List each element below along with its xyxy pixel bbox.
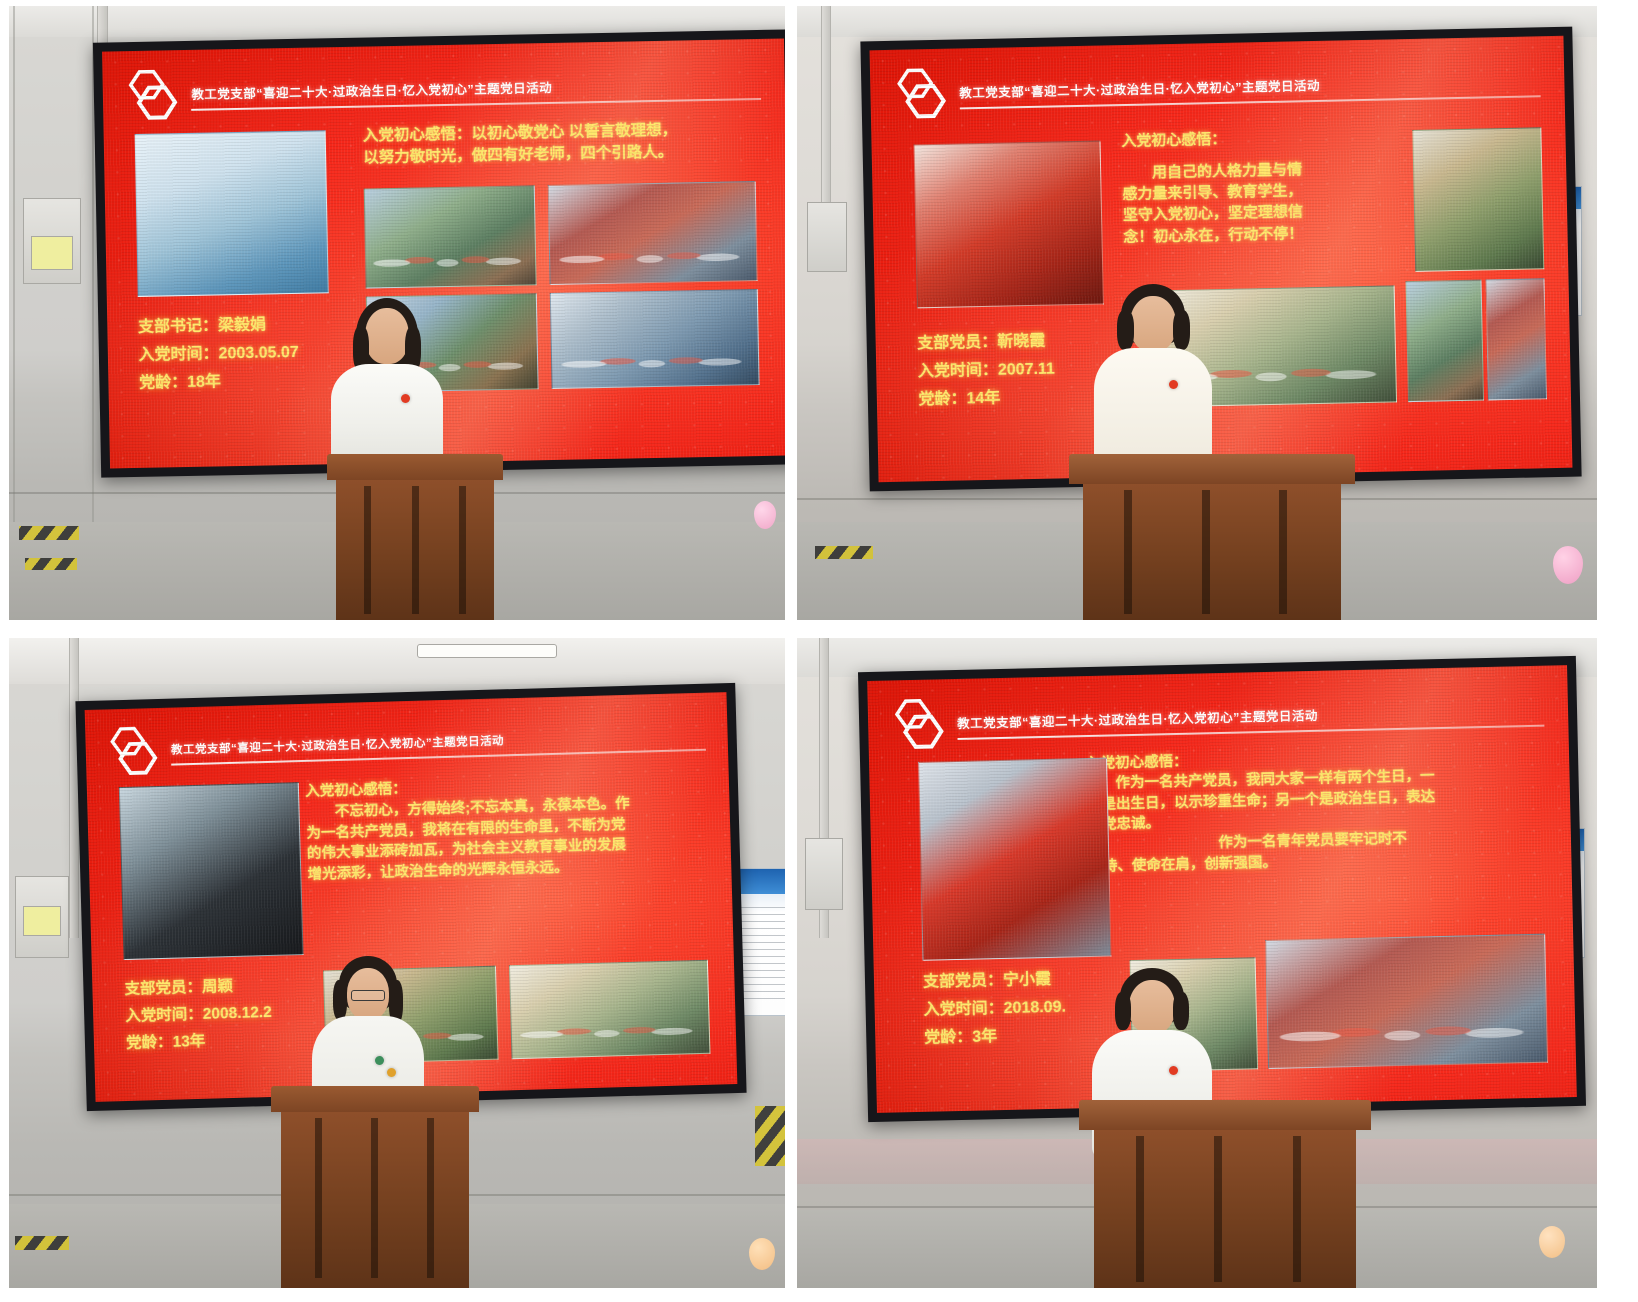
slide-photo-tile	[1485, 278, 1547, 400]
slide-photo-tile	[1405, 279, 1484, 402]
hazard-stripe-marking	[19, 526, 79, 540]
podium-groove	[364, 486, 371, 614]
presenter-hair-side	[1117, 310, 1134, 350]
podium-body	[336, 480, 494, 620]
slide-header-title: 教工党支部“喜迎二十大·过政治生日·忆入党初心”主题党日活动	[191, 81, 552, 102]
presenter-hair-side	[1173, 310, 1190, 350]
slide-header-text-wrap: 教工党支部“喜迎二十大·过政治生日·忆入党初心”主题党日活动	[171, 725, 706, 765]
wall-breaker-box	[805, 838, 843, 910]
speaker-info-block: 支部党员：靳晓霞 入党时间：2007.11 党龄：14年	[917, 327, 1056, 414]
seniority-label: 党龄：	[139, 374, 187, 392]
seniority-value: 18年	[187, 373, 221, 391]
podium-groove	[371, 1118, 378, 1278]
led-screen-frame: 教工党支部“喜迎二十大·过政治生日·忆入党初心”主题党日活动 入党初心感悟： 作…	[858, 656, 1586, 1122]
presenter-torso	[331, 364, 443, 468]
podium-body	[281, 1112, 468, 1288]
podium-body	[1094, 1130, 1357, 1288]
slide-photo-tile	[918, 758, 1111, 961]
join-date-label: 入党时间：	[918, 361, 998, 380]
slide-header-text-wrap: 教工党支部“喜迎二十大·过政治生日·忆入党初心”主题党日活动	[959, 71, 1540, 110]
speaker-info-block: 支部党员：周颖 入党时间：2008.12.2 党龄：13年	[124, 971, 273, 1056]
seniority-line: 党龄：13年	[126, 1026, 273, 1057]
slide-photo-tile	[548, 181, 758, 285]
podium	[327, 454, 503, 620]
slide-photo-tile	[364, 185, 536, 288]
podium-groove	[315, 1118, 322, 1278]
party-badge-icon	[1169, 1066, 1178, 1075]
hazard-stripe-marking	[815, 546, 873, 559]
seniority-line: 党龄：18年	[139, 367, 300, 398]
speaker-role-line: 支部党员：靳晓霞	[917, 327, 1055, 358]
slide-photo-tile	[1265, 934, 1548, 1070]
slide-header-title: 教工党支部“喜迎二十大·过政治生日·忆入党初心”主题党日活动	[957, 709, 1318, 731]
tile-figures	[1279, 996, 1536, 1060]
slide-body-text: 入党初心感悟： 用自己的人格力量与情 感力量来引导、教育学生， 坚守入党初心，坚…	[1121, 126, 1401, 248]
party-badge-icon	[401, 394, 410, 403]
podium-groove	[1124, 490, 1132, 614]
presentation-slide: 教工党支部“喜迎二十大·过政治生日·忆入党初心”主题党日活动 入党初心感悟： 用…	[870, 36, 1573, 482]
speaker-role-label: 支部党员：	[917, 334, 997, 353]
speaker-role-line: 支部党员：宁小霞	[923, 966, 1066, 997]
ceiling	[9, 638, 785, 684]
slide-header-title: 教工党支部“喜迎二十大·过政治生日·忆入党初心”主题党日活动	[959, 79, 1320, 101]
seniority-value: 13年	[172, 1033, 205, 1051]
hazard-stripe-marking	[25, 558, 77, 570]
speaker-name: 宁小霞	[1003, 971, 1051, 989]
seniority-value: 14年	[966, 389, 1000, 407]
slide-photo-tile	[119, 782, 303, 959]
join-date-line: 入党时间：2018.09.	[923, 994, 1066, 1025]
photo-collage: 教工党支部“喜迎二十大·过政治生日·忆入党初心”主题党日活动 入党初心感悟：以初…	[0, 0, 1638, 1302]
presentation-slide: 教工党支部“喜迎二十大·过政治生日·忆入党初心”主题党日活动 入党初心感悟： 作…	[867, 665, 1577, 1113]
podium-top-surface	[327, 454, 503, 480]
seniority-label: 党龄：	[126, 1034, 173, 1052]
presenter-hair-side	[1173, 992, 1189, 1030]
collage-photo-bottom-left: 教工党支部“喜迎二十大·过政治生日·忆入党初心”主题党日活动 入党初心感悟： 不…	[9, 638, 785, 1288]
podium	[1069, 454, 1355, 620]
seniority-line: 党龄：3年	[924, 1022, 1067, 1053]
slide-photo-tile	[134, 131, 328, 297]
seniority-label: 党龄：	[918, 390, 966, 408]
slide-photo-tile	[509, 959, 711, 1059]
warning-label	[31, 236, 73, 270]
slide-photo-tile	[913, 141, 1104, 309]
presenter-head	[1129, 980, 1175, 1034]
speaker-role-line: 支部书记：梁毅娟	[138, 311, 299, 342]
presenter-hair-side	[333, 980, 347, 1020]
join-date-value: 2007.11	[998, 360, 1055, 378]
warning-label	[23, 906, 61, 936]
double-hexagon-logo	[889, 696, 948, 758]
party-badge-icon	[1169, 380, 1178, 389]
double-hexagon-logo	[104, 724, 162, 785]
shirt-print-icon	[387, 1068, 396, 1077]
shirt-print-icon	[375, 1056, 384, 1065]
podium-groove	[459, 486, 466, 614]
podium-groove	[412, 486, 419, 614]
join-date-line: 入党时间：2008.12.2	[125, 999, 272, 1030]
join-date-value: 2003.05.07	[218, 344, 298, 363]
slide-header: 教工党支部“喜迎二十大·过政治生日·忆入党初心”主题党日活动	[123, 56, 762, 129]
double-hexagon-logo	[123, 67, 182, 129]
ceiling-light-fixture	[417, 644, 557, 658]
podium-groove	[1214, 1136, 1222, 1282]
join-date-label: 入党时间：	[125, 1006, 203, 1025]
join-date-line: 入党时间：2003.05.07	[138, 339, 299, 370]
speaker-name: 周颖	[202, 978, 233, 996]
seniority-label: 党龄：	[924, 1029, 972, 1047]
slide-body-text: 入党初心感悟： 不忘初心，方得始终;不忘本真，永葆本色。作 为一名共产党员，我将…	[305, 771, 719, 885]
join-date-label: 入党时间：	[138, 345, 218, 364]
join-date-value: 2018.09.	[1003, 999, 1066, 1017]
slide-header: 教工党支部“喜迎二十大·过政治生日·忆入党初心”主题党日活动	[891, 54, 1541, 129]
collage-photo-bottom-right: 教工党支部“喜迎二十大·过政治生日·忆入党初心”主题党日活动 入党初心感悟： 作…	[797, 638, 1597, 1288]
join-date-value: 2008.12.2	[203, 1004, 272, 1023]
slide-body-text: 入党初心感悟：以初心敬党心 以誓言敬理想， 以努力敬时光，做四有好老师，四个引路…	[363, 118, 773, 170]
presenter-head	[365, 308, 409, 364]
speaker-name: 梁毅娟	[218, 316, 266, 334]
slide-photo-tile	[550, 289, 760, 389]
speaker-role-label: 支部党员：	[923, 972, 1003, 991]
speaker-role-label: 支部党员：	[124, 978, 202, 997]
tile-figures	[558, 229, 748, 278]
speaker-name: 靳晓霞	[997, 332, 1045, 350]
podium-body	[1083, 484, 1340, 620]
speaker-role-label: 支部书记：	[138, 317, 218, 336]
podium-groove	[1136, 1136, 1144, 1282]
speaker-role-line: 支部党员：周颖	[124, 971, 271, 1002]
podium-groove	[427, 1118, 434, 1278]
podium-groove	[1202, 490, 1210, 614]
led-screen-frame: 教工党支部“喜迎二十大·过政治生日·忆入党初心”主题党日活动 入党初心感悟： 用…	[860, 27, 1581, 492]
podium-top-surface	[1079, 1100, 1371, 1130]
presenter-torso	[1094, 348, 1212, 468]
speaker-info-block: 支部书记：梁毅娟 入党时间：2003.05.07 党龄：18年	[138, 311, 300, 398]
podium	[271, 1086, 479, 1288]
podium-groove	[1293, 1136, 1301, 1282]
hazard-stripe-marking	[755, 1106, 785, 1166]
seniority-value: 3年	[972, 1029, 997, 1047]
tile-figures	[560, 335, 750, 382]
join-date-label: 入党时间：	[923, 1000, 1003, 1019]
speaker-info-block: 支部党员：宁小霞 入党时间：2018.09. 党龄：3年	[923, 966, 1067, 1053]
eyeglasses-icon	[351, 990, 385, 1001]
tile-figures	[519, 1005, 701, 1052]
double-hexagon-logo	[891, 66, 950, 128]
slide-body-text: 入党初心感悟： 作为一名共产党员，我同大家一样有两个生日，一 个是出生日，以示珍…	[1086, 743, 1558, 877]
hazard-stripe-marking	[15, 1236, 69, 1250]
presenter-head	[1130, 296, 1176, 352]
podium-top-surface	[1069, 454, 1355, 484]
slide-photo-tile	[1413, 127, 1544, 272]
slide-header-text-wrap: 教工党支部“喜迎二十大·过政治生日·忆入党初心”主题党日活动	[957, 700, 1544, 740]
collage-photo-top-right: 教工党支部“喜迎二十大·过政治生日·忆入党初心”主题党日活动 入党初心感悟： 用…	[797, 6, 1597, 620]
podium-top-surface	[271, 1086, 479, 1112]
join-date-line: 入党时间：2007.11	[918, 355, 1056, 386]
slide-header-text-wrap: 教工党支部“喜迎二十大·过政治生日·忆入党初心”主题党日活动	[191, 73, 761, 111]
collage-photo-top-left: 教工党支部“喜迎二十大·过政治生日·忆入党初心”主题党日活动 入党初心感悟：以初…	[9, 6, 785, 620]
seniority-line: 党龄：14年	[918, 383, 1056, 414]
slide-header-title: 教工党支部“喜迎二十大·过政治生日·忆入党初心”主题党日活动	[171, 735, 504, 756]
tile-figures	[373, 233, 529, 281]
presenter-hair-side	[1115, 992, 1131, 1030]
podium	[1079, 1100, 1371, 1288]
podium-groove	[1279, 490, 1287, 614]
wall-breaker-box	[807, 202, 847, 272]
